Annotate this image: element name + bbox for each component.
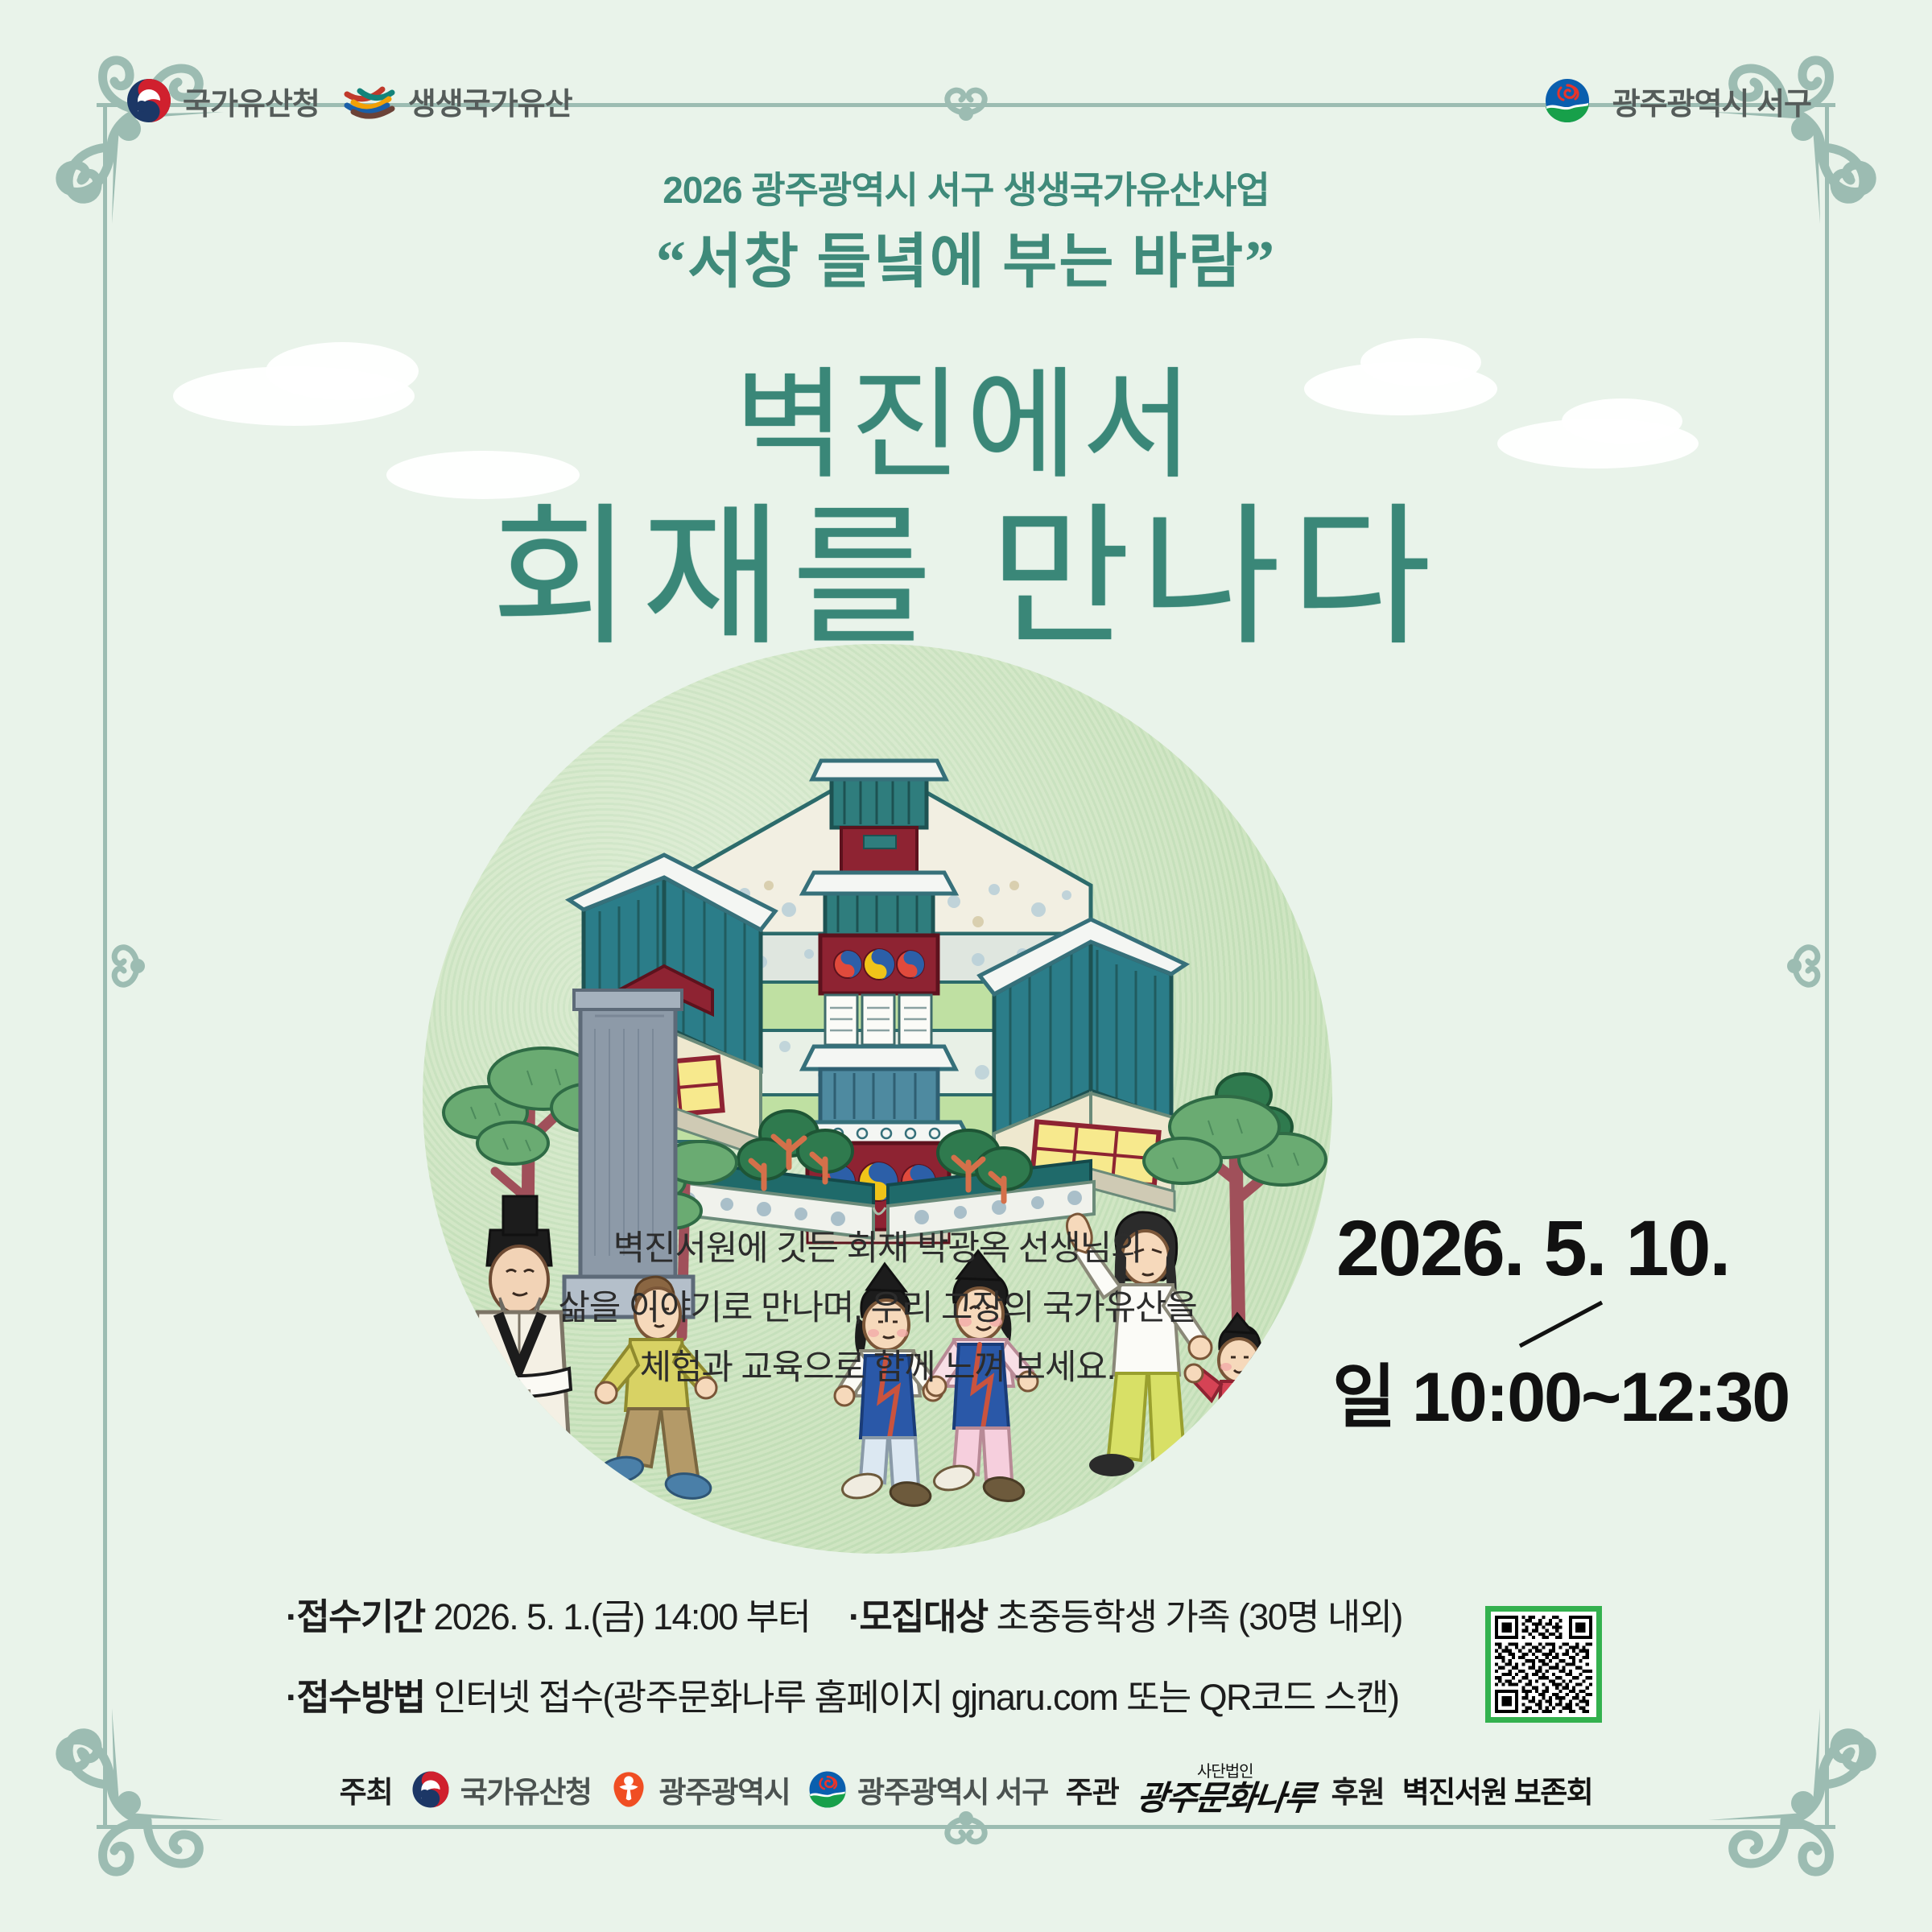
header-left-logos: 국가유산청 생생국가유산	[125, 76, 572, 125]
logo-label: 광주광역시 서구	[1612, 79, 1811, 123]
info-value-target-audience: 초중등학생 가족 (30명 내외)	[996, 1596, 1402, 1637]
footer-host-gwangju-city: 광주광역시	[609, 1768, 790, 1811]
logo-label: 국가유산청	[183, 79, 320, 123]
footer-sponsor-label: 후원	[1331, 1768, 1385, 1811]
program-subtitle: 2026 광주광역시 서구 생생국가유산사업	[0, 161, 1932, 214]
korea-heritage-service-taegeuk-icon	[125, 76, 173, 125]
program-quote: “서창 들녘에 부는 바람”	[0, 213, 1932, 299]
footer-organizer-name: 광주문화나루	[1135, 1781, 1315, 1815]
footer-host-label-text: 국가유산청	[460, 1768, 592, 1811]
qr-code[interactable]	[1485, 1606, 1602, 1723]
gwangju-seogu-emblem-icon	[1543, 76, 1591, 125]
frame-midpoint-ornament-icon	[1779, 918, 1827, 1014]
header-right-logo: 광주광역시 서구	[1543, 76, 1811, 125]
info-label-registration-method: ·접수방법	[286, 1677, 425, 1718]
event-time: 일 10:00~12:30	[1332, 1340, 1789, 1441]
footer-credits: 주최 국가유산청 광주광역시	[0, 1764, 1932, 1815]
event-date: 2026. 5. 10.	[1336, 1203, 1729, 1294]
footer-organizer-label: 주관	[1066, 1768, 1119, 1811]
page-title-line2: 회재를 만나다	[0, 503, 1932, 656]
gwangju-city-emblem-icon	[609, 1769, 649, 1810]
frame-midpoint-ornament-icon	[105, 918, 153, 1014]
footer-host-korea-heritage-service: 국가유산청	[411, 1768, 592, 1811]
info-line-registration-method: ·접수방법 인터넷 접수(광주문화나루 홈페이지 gjnaru.com 또는 Q…	[286, 1668, 1445, 1720]
poster-canvas: 국가유산청 생생국가유산	[0, 0, 1932, 1932]
footer-host-label: 주최	[340, 1768, 393, 1811]
logo-korea-heritage-service: 국가유산청	[125, 76, 320, 125]
info-value-registration-method: 인터넷 접수(광주문화나루 홈페이지 gjnaru.com 또는 QR코드 스캔…	[434, 1677, 1399, 1718]
gwangju-seogu-emblem-icon	[807, 1769, 848, 1810]
corner-flourish-icon	[6, 1708, 224, 1926]
description-line-1: 벽진서원에 깃든 회재 박광옥 선생님의	[483, 1220, 1272, 1279]
footer-organizer-logo: 사단법인 광주문화나루	[1137, 1764, 1314, 1815]
frame-midpoint-ornament-icon	[918, 80, 1014, 129]
logo-label: 생생국가유산	[408, 79, 572, 123]
footer-organizer-sublabel: 사단법인	[1197, 1764, 1253, 1780]
korea-heritage-service-taegeuk-icon	[411, 1769, 451, 1810]
footer-host-label-text: 광주광역시	[658, 1768, 790, 1811]
description-line-2: 삶을 이야기로 만나며, 우리 고장의 국가유산을	[483, 1279, 1272, 1339]
byeokjin-seowon-illustration	[423, 644, 1332, 1554]
footer-sponsor-name: 벽진서원 보존회	[1402, 1768, 1593, 1811]
info-label-registration-period: ·접수기간	[286, 1596, 425, 1637]
qr-code-image	[1495, 1616, 1592, 1713]
footer-host-label-text: 광주광역시 서구	[857, 1768, 1048, 1811]
logo-living-heritage: 생생국가유산	[341, 79, 572, 123]
info-value-registration-period: 2026. 5. 1.(금) 14:00 부터	[434, 1596, 811, 1637]
info-line-registration-period: ·접수기간 2026. 5. 1.(금) 14:00 부터 ·모집대상 초중등학…	[286, 1587, 1445, 1640]
info-label-target-audience: ·모집대상	[848, 1596, 988, 1637]
corner-flourish-icon	[1708, 1708, 1926, 1926]
page-title-line1: 벽진에서	[0, 366, 1932, 487]
description-line-3: 체험과 교육으로 함께 느껴 보세요.	[483, 1339, 1272, 1398]
event-description: 벽진서원에 깃든 회재 박광옥 선생님의 삶을 이야기로 만나며, 우리 고장의…	[483, 1220, 1272, 1398]
living-heritage-waves-icon	[341, 81, 398, 120]
footer-host-gwangju-seogu: 광주광역시 서구	[807, 1768, 1048, 1811]
